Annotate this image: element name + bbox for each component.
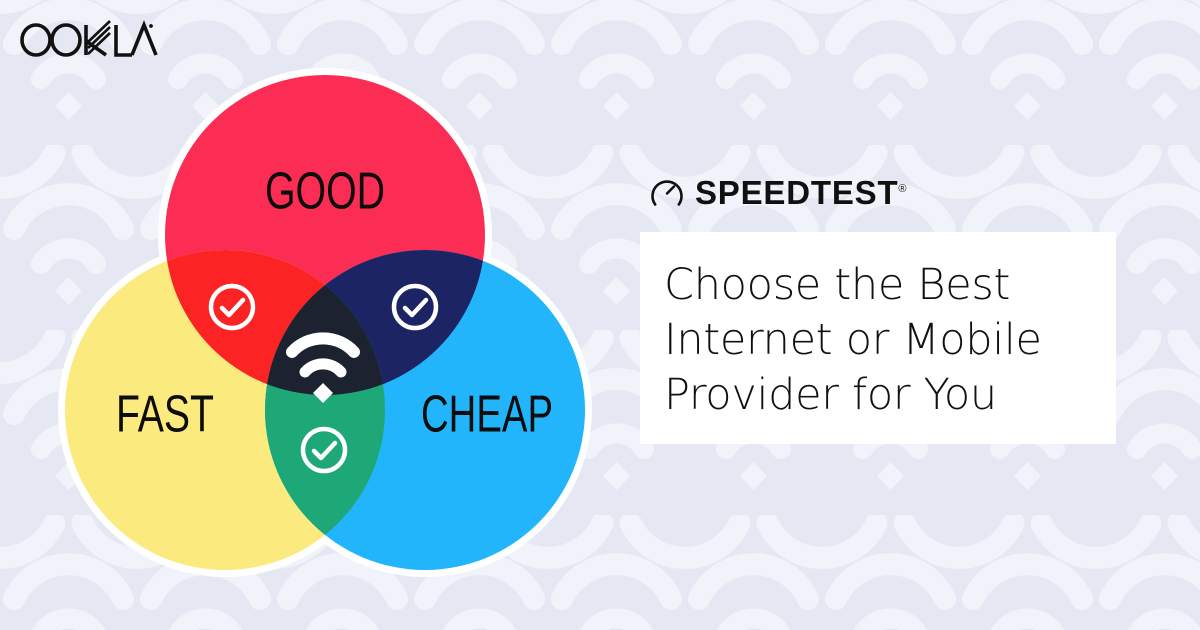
venn-label-good: GOOD [265, 163, 385, 221]
headline-line-2: Internet or Mobile [664, 315, 1042, 365]
venn-diagram: GOOD FAST CHEAP [40, 60, 620, 590]
registered-trademark-symbol: ® [898, 183, 906, 195]
headline-card: Choose the Best Internet or Mobile Provi… [640, 232, 1116, 444]
ookla-logo [18, 16, 158, 62]
speedtest-wordmark: SPEEDTEST® [695, 176, 907, 209]
headline-line-1: Choose the Best [664, 260, 1010, 310]
venn-label-fast: FAST [116, 386, 214, 444]
venn-label-cheap: CHEAP [421, 386, 553, 444]
right-content-column: SPEEDTEST® Choose the Best Internet or M… [640, 170, 1120, 444]
headline-line-3: Provider for You [664, 370, 997, 420]
speedtest-wordmark-text: SPEEDTEST [695, 174, 898, 211]
page-title: Choose the Best Internet or Mobile Provi… [664, 258, 1086, 423]
speedtest-lockup: SPEEDTEST® [640, 170, 1120, 214]
speedometer-icon [650, 175, 684, 209]
poster-canvas: GOOD FAST CHEAP [0, 0, 1200, 630]
